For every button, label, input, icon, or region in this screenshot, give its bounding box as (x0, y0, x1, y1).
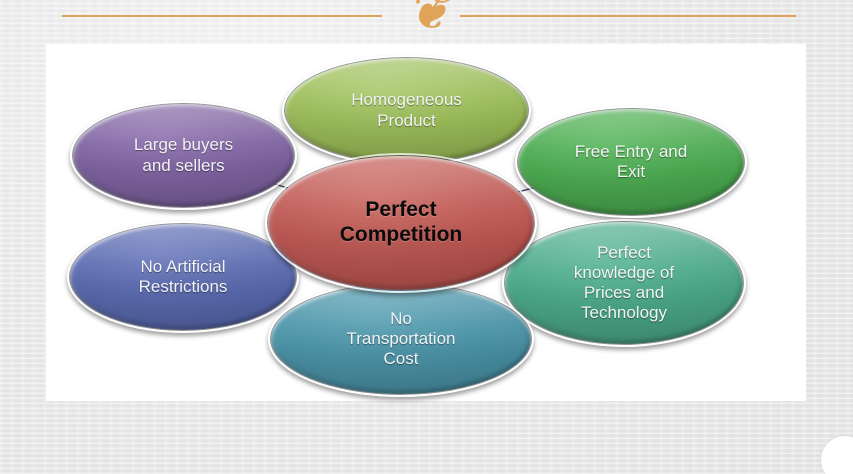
node-large-buyers-and-sellers[interactable]: Large buyers and sellers (73, 104, 294, 207)
node-no-artificial-restrictions[interactable]: No Artificial Restrictions (70, 224, 296, 330)
node-label: No Artificial Restrictions (129, 257, 238, 297)
node-label: No Transportation Cost (337, 309, 466, 369)
content-panel: Perfect Competition Homogeneous Product … (46, 44, 806, 401)
node-label: Large buyers and sellers (124, 135, 243, 175)
node-label: Free Entry and Exit (565, 142, 697, 182)
header-ornament: ❦ (0, 0, 853, 44)
perfect-competition-diagram: Perfect Competition Homogeneous Product … (46, 44, 806, 401)
node-homogeneous-product[interactable]: Homogeneous Product (285, 58, 528, 163)
ornamental-flourish-icon: ❦ (0, 0, 853, 38)
presentation-slide: ❦ Perfect Competition Homogeneous P (0, 0, 853, 474)
node-label: Homogeneous Product (341, 90, 472, 130)
node-label: Perfect knowledge of Prices and Technolo… (564, 243, 684, 323)
node-perfect-knowledge-of-prices-and-technology[interactable]: Perfect knowledge of Prices and Technolo… (505, 222, 743, 344)
node-free-entry-and-exit[interactable]: Free Entry and Exit (518, 109, 744, 215)
node-perfect-competition[interactable]: Perfect Competition (268, 156, 534, 290)
node-label: Perfect Competition (330, 198, 472, 248)
node-no-transportation-cost[interactable]: No Transportation Cost (271, 284, 531, 394)
corner-decoration-circle (821, 436, 853, 474)
